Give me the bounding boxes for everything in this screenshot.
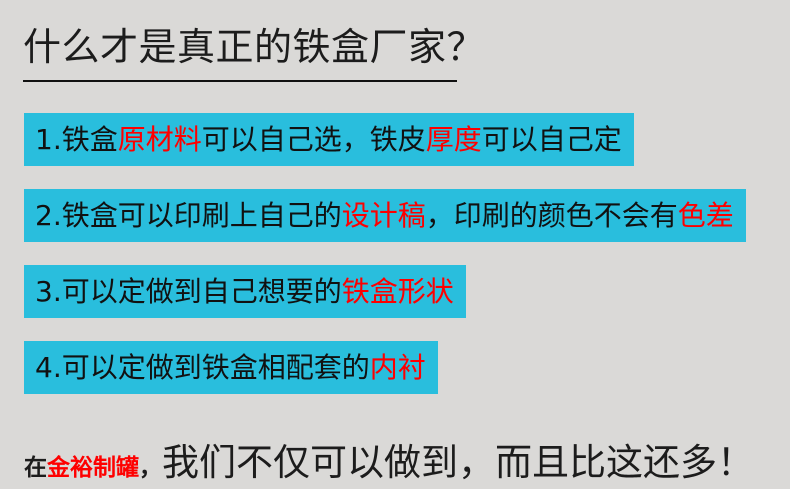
bullet-keyword: 内衬	[370, 351, 426, 384]
bullet-keyword: 色差	[678, 199, 734, 232]
bullet-list: 1.铁盒原材料可以自己选，铁皮厚度可以自己定2.铁盒可以印刷上自己的设计稿，印刷…	[24, 113, 764, 417]
bullet-row: 1.铁盒原材料可以自己选，铁皮厚度可以自己定	[24, 113, 764, 166]
footer-statement: 在金裕制罐，我们不仅可以做到，而且比这还多！	[24, 432, 754, 486]
bullet-row: 2.铁盒可以印刷上自己的设计稿，印刷的颜色不会有色差	[24, 189, 764, 242]
bullet-highlight-box: 2.铁盒可以印刷上自己的设计稿，印刷的颜色不会有色差	[24, 189, 746, 242]
bullet-keyword: 原材料	[118, 123, 202, 156]
poster-canvas: 什么才是真正的铁盒厂家？ 1.铁盒原材料可以自己选，铁皮厚度可以自己定2.铁盒可…	[0, 0, 790, 489]
bullet-text: ，印刷的颜色不会有	[426, 199, 678, 232]
bullet-text: 可以自己定	[482, 123, 622, 156]
bullet-keyword: 铁盒形状	[342, 275, 454, 308]
bullet-text: 可以自己选，铁皮	[202, 123, 426, 156]
footer-prefix: 在	[24, 448, 47, 482]
bullet-keyword: 厚度	[426, 123, 482, 156]
bullet-text: 3.可以定做到自己想要的	[35, 275, 342, 308]
bullet-highlight-box: 1.铁盒原材料可以自己选，铁皮厚度可以自己定	[24, 113, 634, 166]
footer-comma: ，	[139, 448, 162, 482]
bullet-text: 1.铁盒	[35, 123, 118, 156]
bullet-row: 4.可以定做到铁盒相配套的内衬	[24, 341, 764, 394]
bullet-highlight-box: 3.可以定做到自己想要的铁盒形状	[24, 265, 466, 318]
bullet-keyword: 设计稿	[342, 199, 426, 232]
footer-row: 在金裕制罐，我们不仅可以做到，而且比这还多！	[24, 432, 754, 486]
title-divider	[23, 80, 457, 82]
bullet-highlight-box: 4.可以定做到铁盒相配套的内衬	[24, 341, 438, 394]
bullet-text: 2.铁盒可以印刷上自己的	[35, 199, 342, 232]
footer-sentence: 我们不仅可以做到，而且比这还多！	[162, 432, 754, 486]
bullet-row: 3.可以定做到自己想要的铁盒形状	[24, 265, 764, 318]
page-title: 什么才是真正的铁盒厂家？	[23, 24, 485, 70]
bullet-text: 4.可以定做到铁盒相配套的	[35, 351, 370, 384]
footer-brand: 金裕制罐	[47, 448, 139, 482]
